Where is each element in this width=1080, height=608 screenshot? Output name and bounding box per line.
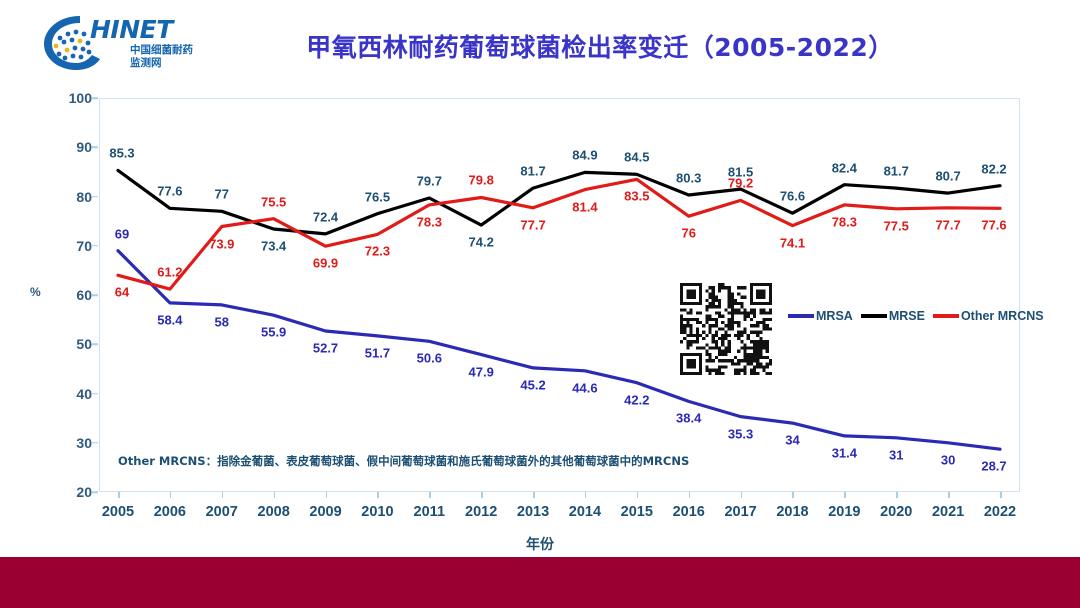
x-axis-tick-2015: 2015	[621, 504, 653, 520]
footer-bar	[0, 557, 1080, 608]
data-label: 74.2	[469, 235, 494, 250]
data-label: 72.3	[365, 244, 390, 259]
data-label: 79.7	[417, 173, 442, 188]
data-label: 47.9	[469, 364, 494, 379]
x-axis-tick-mark	[637, 492, 639, 498]
x-axis-tick-mark	[896, 492, 898, 498]
x-axis-tick-2018: 2018	[776, 504, 808, 520]
chart-legend: MRSAMRSEOther MRCNS	[788, 309, 1052, 323]
data-label: 78.3	[832, 214, 857, 229]
data-label: 35.3	[728, 426, 753, 441]
x-axis-label: 年份	[0, 534, 1080, 554]
data-label: 81.7	[884, 164, 909, 179]
x-axis-tick-2013: 2013	[517, 504, 549, 520]
plot-area	[99, 98, 1020, 492]
legend-item-mrse[interactable]: MRSE	[861, 309, 933, 323]
data-label: 34	[785, 433, 799, 448]
data-label: 77.7	[935, 217, 960, 232]
data-label: 31.4	[832, 445, 857, 460]
x-axis-tick-2021: 2021	[932, 504, 964, 520]
data-label: 83.5	[624, 189, 649, 204]
x-axis-tick-mark	[689, 492, 691, 498]
legend-swatch-icon	[788, 314, 814, 318]
data-label: 42.2	[624, 392, 649, 407]
x-axis-tick-mark	[118, 492, 120, 498]
data-label: 58	[215, 314, 229, 329]
chart-footnote: Other MRCNS：指除金葡菌、表皮葡萄球菌、假中间葡萄球菌和施氏葡萄球菌外…	[118, 453, 689, 469]
data-label: 77.5	[884, 218, 909, 233]
data-label: 77.6	[157, 184, 182, 199]
legend-label: MRSA	[816, 309, 853, 323]
legend-label: Other MRCNS	[961, 309, 1044, 323]
x-axis-tick-mark	[481, 492, 483, 498]
svg-text:HINET: HINET	[90, 15, 175, 44]
data-label: 74.1	[780, 235, 805, 250]
x-axis-tick-mark	[844, 492, 846, 498]
data-label: 84.9	[572, 148, 597, 163]
x-axis-tick-mark	[274, 492, 276, 498]
x-axis-tick-mark	[585, 492, 587, 498]
data-label: 79.2	[728, 176, 753, 191]
legend-item-other-mrcns[interactable]: Other MRCNS	[933, 309, 1052, 323]
y-axis-tick-mark	[92, 147, 98, 149]
y-axis-tick-mark	[92, 393, 98, 395]
legend-swatch-icon	[861, 314, 887, 318]
data-label: 78.3	[417, 214, 442, 229]
y-axis-tick-mark	[92, 196, 98, 198]
data-label: 61.2	[157, 265, 182, 280]
x-axis-tick-2020: 2020	[880, 504, 912, 520]
data-label: 44.6	[572, 380, 597, 395]
data-label: 72.4	[313, 209, 338, 224]
x-axis-tick-2022: 2022	[984, 504, 1016, 520]
data-label: 80.3	[676, 171, 701, 186]
data-label: 77	[215, 187, 229, 202]
data-label: 84.5	[624, 150, 649, 165]
data-label: 52.7	[313, 340, 338, 355]
data-label: 28.7	[981, 459, 1006, 474]
y-axis-tick: 30	[32, 435, 92, 451]
data-label: 55.9	[261, 325, 286, 340]
data-label: 69	[115, 226, 129, 241]
data-label: 77.7	[520, 217, 545, 232]
legend-label: MRSE	[889, 309, 925, 323]
x-axis-tick-2016: 2016	[673, 504, 705, 520]
x-axis-tick-mark	[170, 492, 172, 498]
legend-swatch-icon	[933, 314, 959, 318]
x-axis-tick-2005: 2005	[102, 504, 134, 520]
x-axis-tick-2008: 2008	[258, 504, 290, 520]
x-axis-tick-2007: 2007	[206, 504, 238, 520]
y-axis-tick: 100	[32, 90, 92, 106]
x-axis-tick-2014: 2014	[569, 504, 601, 520]
logo-sub2-text: 监测网	[130, 56, 162, 69]
data-label: 79.8	[469, 173, 494, 188]
x-axis-tick-2006: 2006	[154, 504, 186, 520]
x-axis-tick-mark	[948, 492, 950, 498]
x-axis-tick-mark	[222, 492, 224, 498]
data-label: 82.4	[832, 160, 857, 175]
data-label: 81.4	[572, 199, 597, 214]
x-axis-tick-2009: 2009	[309, 504, 341, 520]
data-label: 64	[115, 285, 129, 300]
y-axis-label: %	[30, 285, 41, 299]
y-axis-tick: 60	[32, 287, 92, 303]
y-axis-tick: 20	[32, 484, 92, 500]
data-label: 50.6	[417, 351, 442, 366]
logo-sub1-text: 中国细菌耐药	[130, 43, 193, 56]
data-label: 81.7	[520, 164, 545, 179]
x-axis-tick-mark	[429, 492, 431, 498]
data-label: 80.7	[935, 169, 960, 184]
legend-item-mrsa[interactable]: MRSA	[788, 309, 861, 323]
page-title: 甲氧西林耐药葡萄球菌检出率变迁（2005-2022）	[300, 28, 900, 64]
y-axis-tick: 50	[32, 336, 92, 352]
chinet-logo: HINET 中国细菌耐药 监测网	[38, 10, 218, 72]
data-label: 31	[889, 447, 903, 462]
y-axis-tick-mark	[92, 491, 98, 493]
x-axis-tick-mark	[792, 492, 794, 498]
data-label: 76	[681, 226, 695, 241]
data-label: 73.9	[209, 236, 234, 251]
x-axis-tick-mark	[377, 492, 379, 498]
data-label: 85.3	[109, 146, 134, 161]
data-label: 51.7	[365, 345, 390, 360]
x-axis-tick-2019: 2019	[828, 504, 860, 520]
y-axis-tick: 40	[32, 386, 92, 402]
x-axis-tick-mark	[1000, 492, 1002, 498]
y-axis-tick: 70	[32, 238, 92, 254]
x-axis-tick-2017: 2017	[724, 504, 756, 520]
data-label: 76.5	[365, 189, 390, 204]
y-axis-tick: 90	[32, 139, 92, 155]
y-axis-tick-mark	[92, 245, 98, 247]
y-axis-tick-mark	[92, 97, 98, 99]
x-axis-tick-2011: 2011	[414, 504, 445, 520]
data-label: 69.9	[313, 256, 338, 271]
qr-code-image	[680, 283, 772, 375]
slide: HINET 中国细菌耐药 监测网 甲氧西林耐药葡萄球菌检出率变迁（2005-20…	[0, 0, 1080, 608]
x-axis-tick-2012: 2012	[465, 504, 497, 520]
data-label: 30	[941, 452, 955, 467]
data-label: 76.6	[780, 189, 805, 204]
x-axis-tick-mark	[533, 492, 535, 498]
data-label: 82.2	[981, 161, 1006, 176]
x-axis-tick-mark	[326, 492, 328, 498]
data-label: 58.4	[157, 312, 182, 327]
data-label: 77.6	[981, 218, 1006, 233]
y-axis-tick-mark	[92, 442, 98, 444]
y-axis-tick-mark	[92, 344, 98, 346]
data-label: 73.4	[261, 239, 286, 254]
y-axis-tick: 80	[32, 189, 92, 205]
data-label: 45.2	[520, 377, 545, 392]
x-axis-tick-mark	[741, 492, 743, 498]
data-label: 38.4	[676, 411, 701, 426]
x-axis-tick-2010: 2010	[361, 504, 393, 520]
data-label: 75.5	[261, 194, 286, 209]
y-axis-tick-mark	[92, 294, 98, 296]
